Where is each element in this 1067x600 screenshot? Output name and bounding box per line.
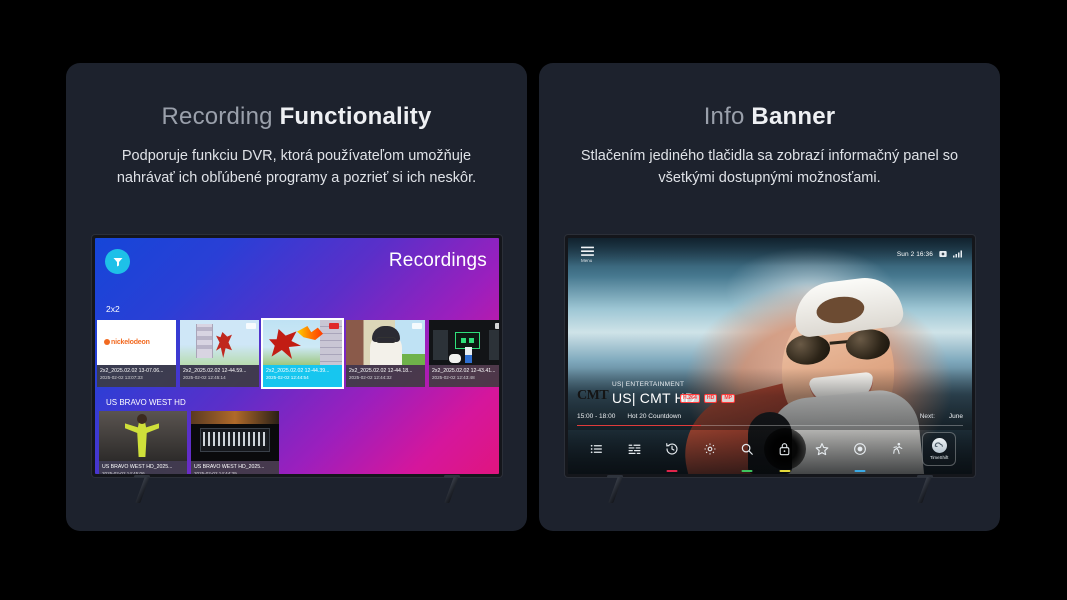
record-icon[interactable] [847,436,873,462]
recording-item[interactable]: 2x2_2025.02.02 12-44.59... 2025-02-02 12… [180,320,259,387]
recording-thumbnail [429,320,499,365]
recording-date: 2025-02-02 14:44:39 [194,471,276,475]
next-programme: Next: June [920,413,963,420]
recording-date: 2025-02-02 12:45:14 [183,375,256,381]
card-title-suffix: Banner [751,103,835,130]
color-key-blue [854,470,865,473]
recording-meta: 2x2_2025.02.02 12-44.39... 2025-02-02 12… [263,365,342,387]
color-key-red [666,470,677,473]
recording-thumbnail [99,411,187,461]
tv-stand [92,477,502,503]
recording-date: 2025-02-02 14:45:06 [102,471,184,475]
thumbnail-artwork [191,411,279,461]
card-description-info-banner: Stlačením jediného tlačidla sa zobrazí i… [575,145,965,190]
recording-thumbnail [191,411,279,461]
status-cluster: Sun 2 16:36 [897,245,962,263]
recording-item[interactable]: US BRAVO WEST HD_2025... 2025-02-02 14:4… [99,411,187,474]
programme-title: Hot 20 Countdown [627,413,681,420]
channel-logo: CMT [577,388,608,404]
badge-audio: MP [721,394,735,403]
programme-time: 15:00 - 18:00 [577,413,615,420]
programme-info: 15:00 - 18:00 Hot 20 Countdown [577,413,681,420]
recording-item[interactable]: US BRAVO WEST HD_2025... 2025-02-02 14:4… [191,411,279,474]
filter-funnel-icon[interactable] [105,249,130,274]
recording-name: 2x2_2025.02.02 12-44.18... [349,368,422,375]
lock-icon[interactable] [772,436,798,462]
recording-name: US BRAVO WEST HD_2025... [102,464,184,471]
recording-item[interactable]: 2x2_2025.02.02 12-44.18... 2025-02-02 12… [346,320,425,387]
search-icon[interactable] [734,436,760,462]
recording-thumbnail [180,320,259,365]
card-title-info-banner: Info Banner [539,103,1000,131]
tv-bezel: Recordings 2x2 nickelodeon [92,235,502,477]
recording-name: 2x2_2025.02.02 12-44.39... [266,368,339,375]
card-title-recording: Recording Functionality [66,103,527,131]
info-banner: CMT US| ENTERTAINMENT US| CMT HD H.264 H… [568,368,972,430]
info-banner-app: Menu Sun 2 16:36 [568,238,972,474]
recording-meta: 2x2_2025.02.02 12-44.59... 2025-02-02 12… [180,365,259,387]
recording-name: 2x2_2025.02.02 13-07.06... [100,368,173,375]
recording-date: 2025-02-02 13:07:33 [100,375,173,381]
tv-bezel: Menu Sun 2 16:36 [565,235,975,477]
tv-mockup-info-banner: Menu Sun 2 16:36 [565,235,975,477]
status-clock: Sun 2 16:36 [897,251,933,258]
tv-stand [565,477,975,503]
channel-category: US| ENTERTAINMENT [612,381,684,388]
screen-cast-icon [939,245,947,263]
signal-bars-icon [953,245,962,263]
recording-thumbnail [263,320,342,365]
recording-name: US BRAVO WEST HD_2025... [194,464,276,471]
recording-date: 2025-02-02 12:44:54 [266,375,339,381]
recordings-group-label-1: 2x2 [106,304,120,314]
next-label: Next: [920,413,935,420]
history-icon[interactable] [659,436,685,462]
timeshift-cloud-icon [932,438,947,453]
recording-date: 2025-02-02 12:44:32 [349,375,422,381]
recording-name: 2x2_2025.02.02 12-44.59... [183,368,256,375]
sports-icon[interactable] [885,436,911,462]
tv-mockup-recordings: Recordings 2x2 nickelodeon [92,235,502,477]
recordings-app: Recordings 2x2 nickelodeon [95,238,499,474]
recordings-heading: Recordings [389,250,487,272]
favourite-star-icon[interactable] [809,436,835,462]
settings-gear-icon[interactable] [697,436,723,462]
epg-guide-icon[interactable] [621,436,647,462]
badge-codec: H.264 [680,394,700,403]
next-value: June [949,413,963,420]
info-banner-toolbar: TimeShift [568,430,972,474]
tv-screen-info-banner: Menu Sun 2 16:36 [568,238,972,474]
thumbnail-artwork [99,411,187,461]
recording-meta: US BRAVO WEST HD_2025... 2025-02-02 14:4… [191,461,279,474]
timeshift-button[interactable]: TimeShift [922,432,956,466]
recording-meta: 2x2_2025.02.02 12-44.18... 2025-02-02 12… [346,365,425,387]
recording-badge-icon [163,323,173,329]
recording-badge-icon [246,323,256,329]
menu-label: Menu [581,258,592,263]
recording-item[interactable]: nickelodeon 2x2_2025.02.02 13-07.06... 2… [97,320,176,387]
timeshift-label: TimeShift [930,455,948,460]
recordings-row-1: nickelodeon 2x2_2025.02.02 13-07.06... 2… [97,320,499,387]
recording-meta: 2x2_2025.02.02 12-43.41... 2025-02-02 12… [429,365,499,387]
recording-thumbnail [346,320,425,365]
card-title-suffix: Functionality [280,103,432,130]
recording-badge-icon [412,323,422,329]
channel-badges: H.264 HD MP [680,394,735,403]
page-root: Recording Functionality Podporuje funkci… [0,0,1067,600]
recording-item-selected[interactable]: 2x2_2025.02.02 12-44.39... 2025-02-02 12… [263,320,342,387]
feature-card-info-banner: Info Banner Stlačením jediného tlačidla … [539,63,1000,531]
tv-screen-recordings: Recordings 2x2 nickelodeon [95,238,499,474]
recording-meta: US BRAVO WEST HD_2025... 2025-02-02 14:4… [99,461,187,474]
recordings-header: Recordings [95,238,499,300]
thumbnail-artwork [429,320,499,365]
feature-card-recording: Recording Functionality Podporuje funkci… [66,63,527,531]
programme-progress-bar [577,425,963,427]
status-bar: Menu Sun 2 16:36 [568,238,972,266]
badge-resolution: HD [704,394,718,403]
recordings-row-2: US BRAVO WEST HD_2025... 2025-02-02 14:4… [99,411,279,474]
color-key-green [742,470,753,473]
recording-date: 2025-02-02 12:43:48 [432,375,499,381]
channel-list-icon[interactable] [584,436,610,462]
card-description-recording: Podporuje funkciu DVR, ktorá používateľo… [102,145,492,190]
recording-name: 2x2_2025.02.02 12-43.41... [432,368,499,375]
card-title-prefix: Recording [161,103,272,130]
recording-thumbnail: nickelodeon [97,320,176,365]
recording-badge-icon [329,323,339,329]
recording-item[interactable]: 2x2_2025.02.02 12-43.41... 2025-02-02 12… [429,320,499,387]
card-title-prefix: Info [704,103,745,130]
color-key-yellow [779,470,790,473]
recording-meta: 2x2_2025.02.02 13-07.06... 2025-02-02 13… [97,365,176,387]
recording-badge-icon [495,323,499,329]
recordings-group-label-2: US BRAVO WEST HD [106,398,186,407]
